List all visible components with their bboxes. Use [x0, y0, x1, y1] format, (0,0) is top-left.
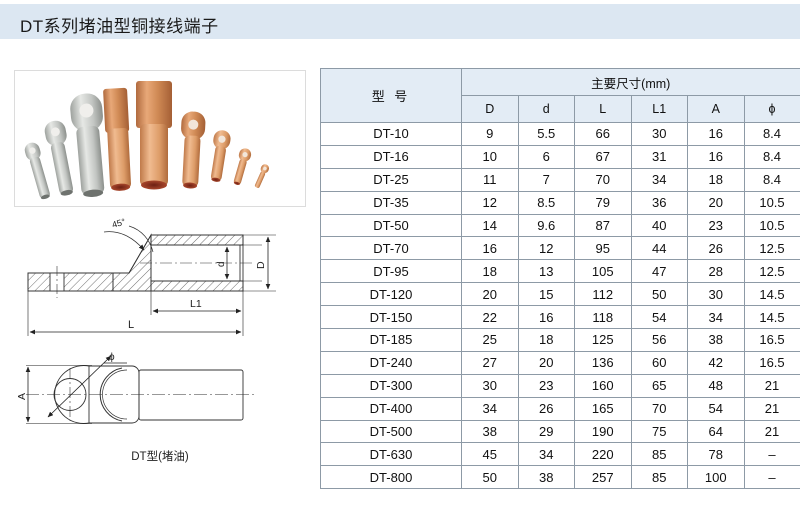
- cell-model: DT-150: [321, 306, 462, 329]
- cell-L1: 36: [631, 191, 688, 214]
- cell-L1: 56: [631, 329, 688, 352]
- table-row: DT-2402720136604216.5: [321, 351, 800, 374]
- angle-label: 45°: [111, 218, 127, 230]
- cell-L1: 34: [631, 168, 688, 191]
- cell-L: 79: [575, 191, 632, 214]
- product-photo: [14, 70, 306, 207]
- cell-d: 5.5: [518, 123, 575, 146]
- cell-model: DT-630: [321, 443, 462, 466]
- cell-A: 42: [688, 351, 745, 374]
- cell-D: 10: [462, 145, 519, 168]
- cell-phi: 8.4: [744, 123, 800, 146]
- drawing-caption: DT型(堵油): [14, 448, 306, 464]
- cell-phi: 21: [744, 397, 800, 420]
- cell-L: 112: [575, 283, 632, 306]
- table-row: DT-50149.687402310.5: [321, 214, 800, 237]
- cell-D: 27: [462, 351, 519, 374]
- dim-phi-label: ϕ: [109, 352, 115, 363]
- cell-D: 25: [462, 329, 519, 352]
- cell-D: 30: [462, 374, 519, 397]
- cell-phi: 16.5: [744, 351, 800, 374]
- cell-L: 257: [575, 466, 632, 489]
- column-header-phi: ϕ: [744, 96, 800, 123]
- cell-L: 67: [575, 145, 632, 168]
- cell-phi: 12.5: [744, 237, 800, 260]
- cell-L: 125: [575, 329, 632, 352]
- cell-d: 29: [518, 420, 575, 443]
- cell-model: DT-95: [321, 260, 462, 283]
- cell-d: 12: [518, 237, 575, 260]
- cell-L1: 65: [631, 374, 688, 397]
- cell-d: 8.5: [518, 191, 575, 214]
- cell-D: 34: [462, 397, 519, 420]
- cell-model: DT-120: [321, 283, 462, 306]
- cell-d: 34: [518, 443, 575, 466]
- cell-A: 26: [688, 237, 745, 260]
- cell-L1: 70: [631, 397, 688, 420]
- technical-drawings: 45° d D L1: [14, 218, 306, 478]
- product-spec-sheet: DT系列堵油型铜接线端子: [0, 0, 800, 512]
- cell-A: 23: [688, 214, 745, 237]
- dim-L-label: L: [128, 319, 134, 331]
- cell-d: 7: [518, 168, 575, 191]
- cell-L: 190: [575, 420, 632, 443]
- table-row: DT-1095.56630168.4: [321, 123, 800, 146]
- cell-model: DT-400: [321, 397, 462, 420]
- cell-model: DT-240: [321, 351, 462, 374]
- table-header: 型 号 主要尺寸(mm) D d L L1 A ϕ: [321, 69, 800, 123]
- table-row: DT-5003829190756421: [321, 420, 800, 443]
- table-row: DT-4003426165705421: [321, 397, 800, 420]
- cell-D: 18: [462, 260, 519, 283]
- cell-phi: 21: [744, 374, 800, 397]
- page-title: DT系列堵油型铜接线端子: [20, 12, 219, 37]
- table-row: DT-63045342208578–: [321, 443, 800, 466]
- cell-D: 14: [462, 214, 519, 237]
- cell-D: 12: [462, 191, 519, 214]
- column-header-L1: L1: [631, 96, 688, 123]
- cell-model: DT-50: [321, 214, 462, 237]
- cell-L: 165: [575, 397, 632, 420]
- cell-A: 28: [688, 260, 745, 283]
- cell-L1: 75: [631, 420, 688, 443]
- cell-L1: 85: [631, 443, 688, 466]
- cell-A: 34: [688, 306, 745, 329]
- cell-model: DT-185: [321, 329, 462, 352]
- table-row: DT-1202015112503014.5: [321, 283, 800, 306]
- cell-d: 23: [518, 374, 575, 397]
- cell-d: 20: [518, 351, 575, 374]
- column-header-A: A: [688, 96, 745, 123]
- cell-d: 26: [518, 397, 575, 420]
- cell-D: 16: [462, 237, 519, 260]
- cell-D: 20: [462, 283, 519, 306]
- column-header-L: L: [575, 96, 632, 123]
- cell-L1: 54: [631, 306, 688, 329]
- cell-A: 64: [688, 420, 745, 443]
- cell-d: 9.6: [518, 214, 575, 237]
- cell-phi: 8.4: [744, 168, 800, 191]
- column-header-D: D: [462, 96, 519, 123]
- cell-L: 87: [575, 214, 632, 237]
- cell-L1: 31: [631, 145, 688, 168]
- cell-D: 22: [462, 306, 519, 329]
- cell-phi: 12.5: [744, 260, 800, 283]
- cell-model: DT-500: [321, 420, 462, 443]
- cell-phi: 14.5: [744, 306, 800, 329]
- cell-A: 100: [688, 466, 745, 489]
- cell-phi: 10.5: [744, 214, 800, 237]
- cell-model: DT-10: [321, 123, 462, 146]
- cell-D: 38: [462, 420, 519, 443]
- cell-model: DT-800: [321, 466, 462, 489]
- table-row: DT-161066731168.4: [321, 145, 800, 168]
- cell-L1: 50: [631, 283, 688, 306]
- dim-L1-label: L1: [190, 298, 202, 310]
- cell-d: 16: [518, 306, 575, 329]
- table-row: DT-251177034188.4: [321, 168, 800, 191]
- cell-L1: 47: [631, 260, 688, 283]
- cell-d: 15: [518, 283, 575, 306]
- cell-model: DT-16: [321, 145, 462, 168]
- cell-phi: 8.4: [744, 145, 800, 168]
- cell-L1: 85: [631, 466, 688, 489]
- cell-phi: 14.5: [744, 283, 800, 306]
- column-header-group: 主要尺寸(mm): [462, 69, 800, 96]
- cell-phi: 10.5: [744, 191, 800, 214]
- cell-A: 48: [688, 374, 745, 397]
- cell-phi: 21: [744, 420, 800, 443]
- cell-A: 20: [688, 191, 745, 214]
- cell-L1: 44: [631, 237, 688, 260]
- cell-model: DT-25: [321, 168, 462, 191]
- cell-d: 6: [518, 145, 575, 168]
- cell-L: 160: [575, 374, 632, 397]
- cell-A: 38: [688, 329, 745, 352]
- cell-phi: 16.5: [744, 329, 800, 352]
- table-row: DT-35128.579362010.5: [321, 191, 800, 214]
- dim-A-label: A: [16, 393, 28, 400]
- table-body: DT-1095.56630168.4DT-161066731168.4DT-25…: [321, 123, 800, 489]
- dim-D-label: D: [255, 261, 267, 269]
- cell-phi: –: [744, 443, 800, 466]
- cell-A: 16: [688, 145, 745, 168]
- cell-D: 9: [462, 123, 519, 146]
- column-header-model: 型 号: [321, 69, 462, 123]
- cell-model: DT-35: [321, 191, 462, 214]
- table-row: DT-951813105472812.5: [321, 260, 800, 283]
- cell-A: 16: [688, 123, 745, 146]
- cell-L: 95: [575, 237, 632, 260]
- table-row: DT-3003023160654821: [321, 374, 800, 397]
- engineering-drawing: 45° d D L1: [14, 218, 306, 473]
- cell-d: 13: [518, 260, 575, 283]
- cell-phi: –: [744, 466, 800, 489]
- cell-L: 66: [575, 123, 632, 146]
- cell-L1: 40: [631, 214, 688, 237]
- cell-L: 118: [575, 306, 632, 329]
- lug-photo-graphic: [15, 71, 305, 206]
- cell-model: DT-70: [321, 237, 462, 260]
- cell-d: 18: [518, 329, 575, 352]
- cell-A: 30: [688, 283, 745, 306]
- dim-d-label: d: [216, 261, 227, 267]
- title-banner: DT系列堵油型铜接线端子: [0, 4, 800, 39]
- table-header-row-1: 型 号 主要尺寸(mm): [321, 69, 800, 96]
- cell-A: 18: [688, 168, 745, 191]
- specification-table: 型 号 主要尺寸(mm) D d L L1 A ϕ DT-1095.566301…: [320, 68, 800, 489]
- table-row: DT-1852518125563816.5: [321, 329, 800, 352]
- cell-D: 50: [462, 466, 519, 489]
- table-row: DT-800503825785100–: [321, 466, 800, 489]
- cell-L: 105: [575, 260, 632, 283]
- cell-D: 45: [462, 443, 519, 466]
- table-row: DT-1502216118543414.5: [321, 306, 800, 329]
- column-header-d: d: [518, 96, 575, 123]
- cell-L: 70: [575, 168, 632, 191]
- cell-A: 78: [688, 443, 745, 466]
- cell-L1: 60: [631, 351, 688, 374]
- cell-L1: 30: [631, 123, 688, 146]
- cell-L: 220: [575, 443, 632, 466]
- cell-A: 54: [688, 397, 745, 420]
- cell-D: 11: [462, 168, 519, 191]
- cell-L: 136: [575, 351, 632, 374]
- table-row: DT-70161295442612.5: [321, 237, 800, 260]
- cell-model: DT-300: [321, 374, 462, 397]
- cell-d: 38: [518, 466, 575, 489]
